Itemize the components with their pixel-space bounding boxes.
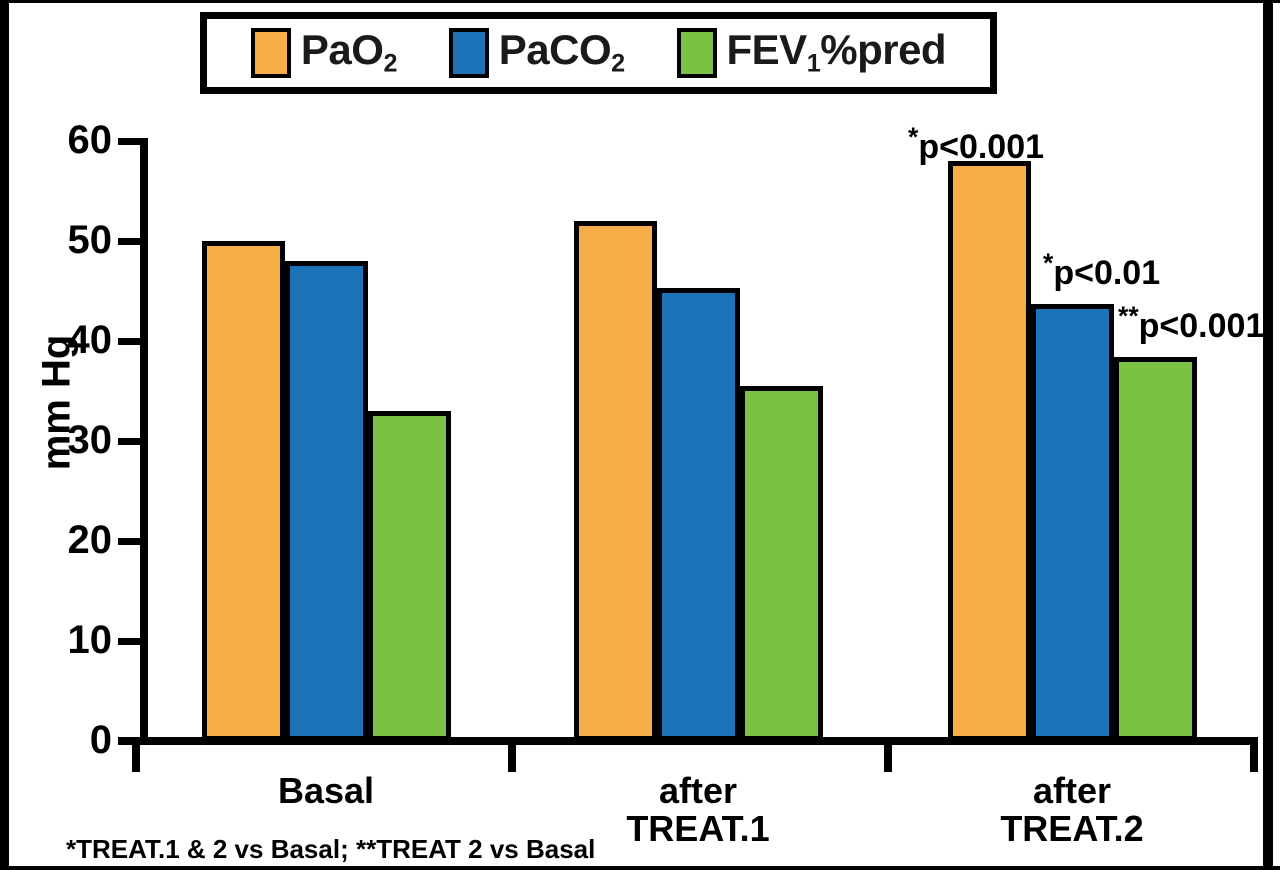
bar-pao2-group3: [948, 161, 1031, 741]
bar-chart-figure: PaO2 PaCO2 FEV1%pred mm Hg 0102030405060…: [0, 0, 1280, 870]
y-axis-tick-label: 20: [40, 520, 112, 560]
x-axis-tick: [508, 744, 516, 772]
y-axis-tick-label: 0: [40, 720, 112, 760]
legend-item-fev1: FEV1%pred: [677, 28, 947, 78]
bar-pao2-group1: [202, 241, 285, 741]
x-axis-tick: [132, 744, 140, 772]
y-axis-tick-label: 30: [40, 420, 112, 460]
chart-legend: PaO2 PaCO2 FEV1%pred: [200, 12, 997, 94]
x-axis-tick: [1250, 744, 1258, 772]
chart-footnote: *TREAT.1 & 2 vs Basal; **TREAT 2 vs Basa…: [66, 836, 595, 862]
legend-item-paco2: PaCO2: [449, 28, 625, 78]
figure-border-bottom: [0, 866, 1280, 870]
legend-label-pao2: PaO2: [301, 29, 397, 77]
figure-border-left: [0, 0, 9, 870]
figure-border-top: [0, 0, 1280, 3]
legend-swatch-paco2: [449, 28, 489, 78]
y-axis-tick: [118, 638, 142, 645]
bar-pao2-group2: [574, 221, 657, 741]
x-axis-group-label: Basal: [166, 772, 486, 810]
legend-label-fev1-subscript: 1: [807, 50, 821, 78]
bar-paco2-group2: [657, 288, 740, 741]
legend-label-fev1-text: FEV: [727, 26, 807, 73]
bar-paco2-group1: [285, 261, 368, 741]
plot-area: [145, 141, 1258, 741]
y-axis-tick-label: 60: [40, 120, 112, 160]
y-axis-tick: [118, 538, 142, 545]
figure-border-right: [1263, 0, 1273, 870]
legend-swatch-pao2: [251, 28, 291, 78]
legend-swatch-fev1: [677, 28, 717, 78]
x-axis-tick: [884, 744, 892, 772]
y-axis-tick-label: 10: [40, 620, 112, 660]
bar-fev1pred-group2: [740, 386, 823, 741]
legend-label-paco2: PaCO2: [499, 29, 625, 77]
legend-label-fev1: FEV1%pred: [727, 29, 947, 77]
y-axis-tick: [118, 238, 142, 245]
legend-label-fev1-suffix: %pred: [820, 26, 946, 73]
bar-fev1pred-group3: [1114, 357, 1197, 741]
y-axis-tick: [118, 438, 142, 445]
y-axis-tick: [118, 338, 142, 345]
bar-fev1pred-group1: [368, 411, 451, 741]
legend-label-pao2-text: PaO: [301, 26, 384, 73]
y-axis-tick-label: 50: [40, 220, 112, 260]
legend-item-pao2: PaO2: [251, 28, 397, 78]
legend-label-paco2-subscript: 2: [611, 50, 625, 78]
legend-label-paco2-text: PaCO: [499, 26, 611, 73]
legend-label-pao2-subscript: 2: [383, 50, 397, 78]
bar-paco2-group3: [1031, 304, 1114, 741]
y-axis-tick: [118, 138, 142, 145]
x-axis-group-label: after TREAT.2: [912, 772, 1232, 848]
y-axis-tick-label: 40: [40, 320, 112, 360]
